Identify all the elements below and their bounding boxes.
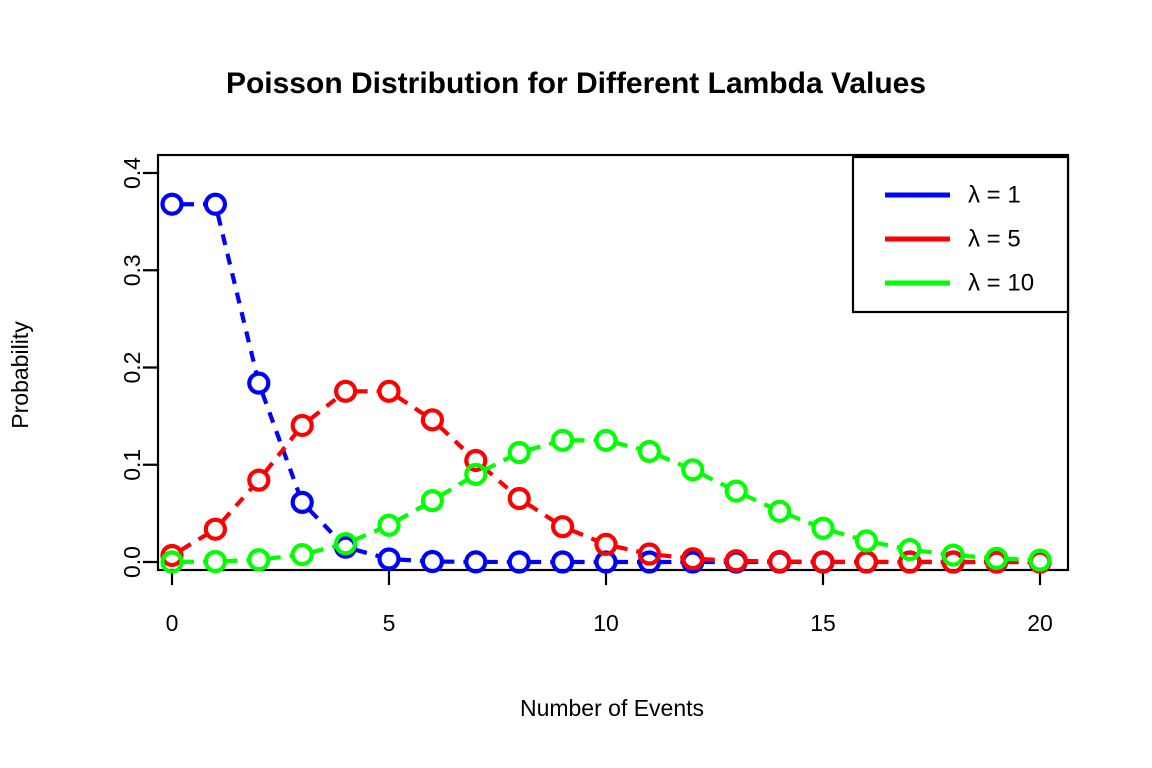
figure-background xyxy=(0,0,1152,768)
y-axis-tick-label: 0.1 xyxy=(119,449,145,481)
x-axis-tick-label: 5 xyxy=(383,610,396,636)
legend-item-label: λ = 10 xyxy=(968,270,1034,297)
chart-canvas: Poisson Distribution for Different Lambd… xyxy=(0,0,1152,768)
x-axis-tick-label: 20 xyxy=(1027,610,1053,636)
x-axis-tick-label: 15 xyxy=(810,610,836,636)
x-axis-label: Number of Events xyxy=(520,695,704,721)
poisson-chart-figure: Poisson Distribution for Different Lambd… xyxy=(0,0,1152,768)
legend-box xyxy=(853,157,1068,312)
x-axis-tick-label: 10 xyxy=(593,610,619,636)
page-title: Poisson Distribution for Different Lambd… xyxy=(226,67,926,100)
y-axis-tick-label: 0.3 xyxy=(119,254,145,286)
legend-item-label: λ = 1 xyxy=(968,182,1021,209)
y-axis-tick-label: 0.0 xyxy=(119,546,145,578)
y-axis-label: Probability xyxy=(7,321,33,429)
legend-item-label: λ = 5 xyxy=(968,226,1021,253)
chart-legend: λ = 1λ = 5λ = 10 xyxy=(853,157,1068,312)
y-axis-tick-label: 0.2 xyxy=(119,352,145,384)
x-axis-tick-label: 0 xyxy=(166,610,179,636)
y-axis-tick-label: 0.4 xyxy=(119,157,145,189)
